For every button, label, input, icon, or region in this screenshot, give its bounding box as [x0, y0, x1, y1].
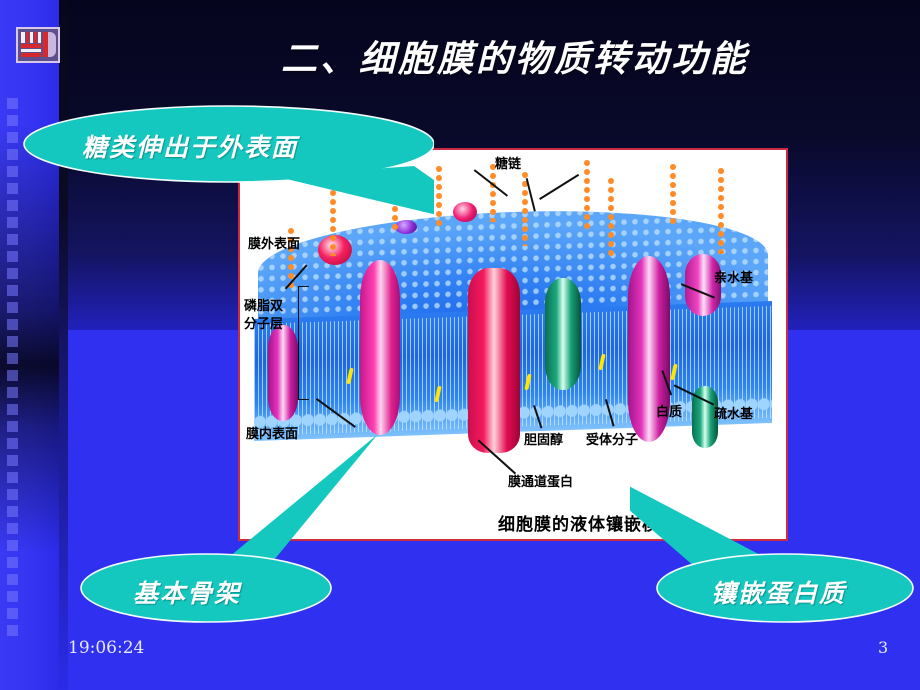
callout-top-left-shape — [14, 104, 434, 234]
diagram-label-cholesterol: 胆固醇 — [524, 434, 563, 449]
diagram-label-outer-surface: 膜外表面 — [248, 238, 300, 253]
slide-page-number: 3 — [878, 638, 888, 657]
diagram-label-hydrophilic: 亲水基 — [714, 272, 753, 287]
callout-bottom-right-label: 镶嵌蛋白质 — [711, 574, 846, 610]
callout-top-left-label: 糖类伸出于外表面 — [82, 128, 298, 164]
diagram-label-channel-protein: 膜通道蛋白 — [508, 476, 573, 491]
diagram-label-phospholipid-line1: 磷脂双 — [244, 300, 283, 315]
presentation-slide: 二、细胞膜的物质转动功能 — [0, 0, 920, 690]
powerpoint-logo-icon — [16, 27, 60, 63]
slide-timestamp: 19:06:24 — [68, 638, 144, 658]
slide-title: 二、细胞膜的物质转动功能 — [150, 30, 880, 82]
diagram-label-phospholipid-line2: 分子层 — [244, 318, 283, 333]
diagram-label-glycochain: 糖链 — [495, 158, 521, 173]
diagram-label-hydrophobic: 疏水基 — [714, 408, 753, 423]
callout-bottom-left-label: 基本骨架 — [133, 574, 241, 610]
diagram-label-protein-partial: 白质 — [656, 406, 682, 421]
